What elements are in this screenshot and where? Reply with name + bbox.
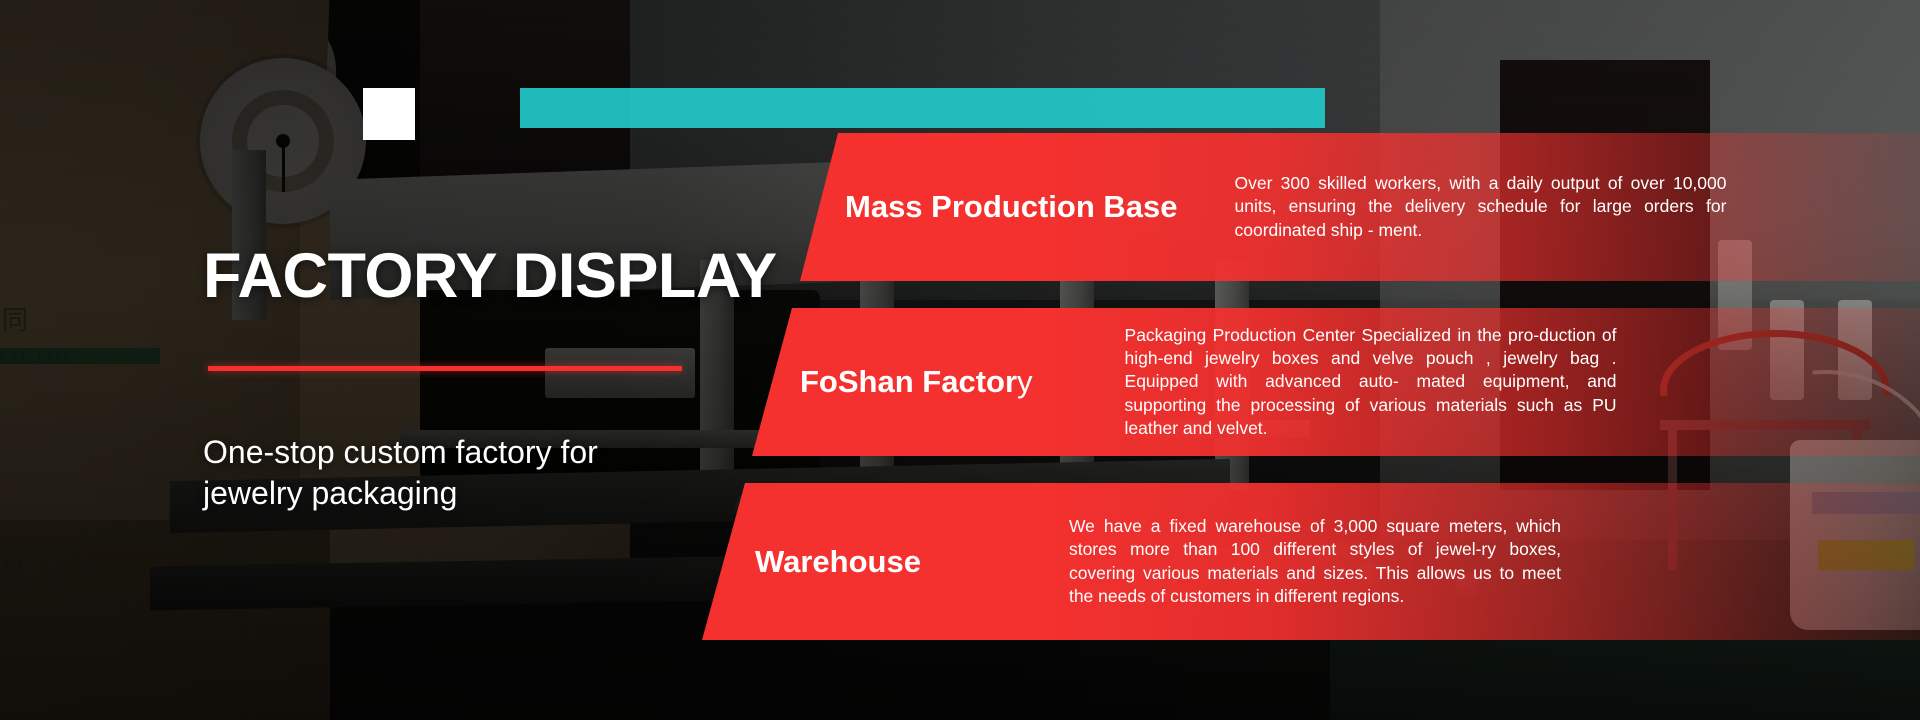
feature-panel-warehouse: Warehouse We have a fixed warehouse of 3…: [0, 483, 1920, 640]
panel-content: FoShan Factory Packaging Production Cent…: [0, 324, 1920, 440]
panel-heading: FoShan Factory: [800, 364, 1033, 400]
panel-body-text: We have a fixed warehouse of 3,000 squar…: [1069, 515, 1561, 608]
teal-bar-accent: [520, 88, 1325, 128]
panel-heading: Warehouse: [755, 544, 921, 580]
panel-heading-text: Mass Production Base: [845, 189, 1177, 224]
panel-content: Warehouse We have a fixed warehouse of 3…: [0, 515, 1920, 608]
feature-panel-foshan-factory: FoShan Factory Packaging Production Cent…: [0, 308, 1920, 456]
panel-heading-tail: y: [1017, 364, 1033, 399]
panel-body-text: Over 300 skilled workers, with a daily o…: [1234, 172, 1726, 242]
panel-heading: Mass Production Base: [845, 189, 1177, 225]
feature-panel-mass-production: Mass Production Base Over 300 skilled wo…: [0, 133, 1920, 281]
panel-body-text: Packaging Production Center Specialized …: [1125, 324, 1617, 440]
panel-content: Mass Production Base Over 300 skilled wo…: [0, 172, 1920, 242]
panel-heading-text: FoShan Factor: [800, 364, 1017, 399]
panel-heading-text: Warehouse: [755, 544, 921, 579]
factory-display-banner: 同 CO.,LTD 30: [0, 0, 1920, 720]
